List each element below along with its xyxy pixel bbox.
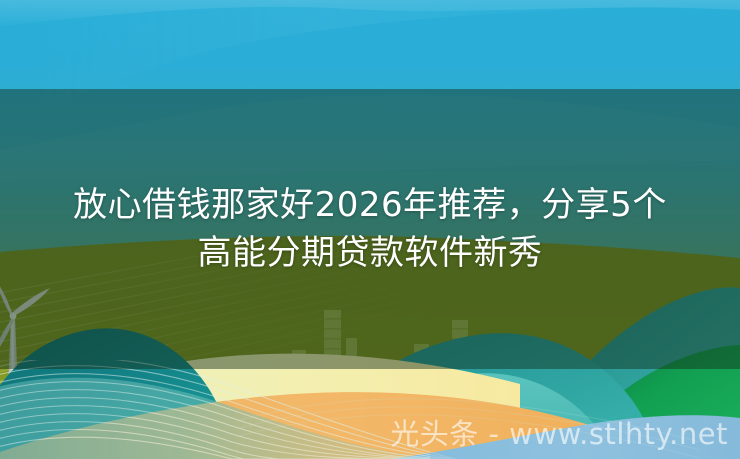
article-cover-banner: 放心借钱那家好2026年推荐，分享5个 高能分期贷款软件新秀 光头条 - www… xyxy=(0,0,740,459)
page-title: 放心借钱那家好2026年推荐，分享5个 高能分期贷款软件新秀 xyxy=(0,181,740,277)
site-watermark: 光头条 - www.stlhty.net xyxy=(390,417,728,451)
